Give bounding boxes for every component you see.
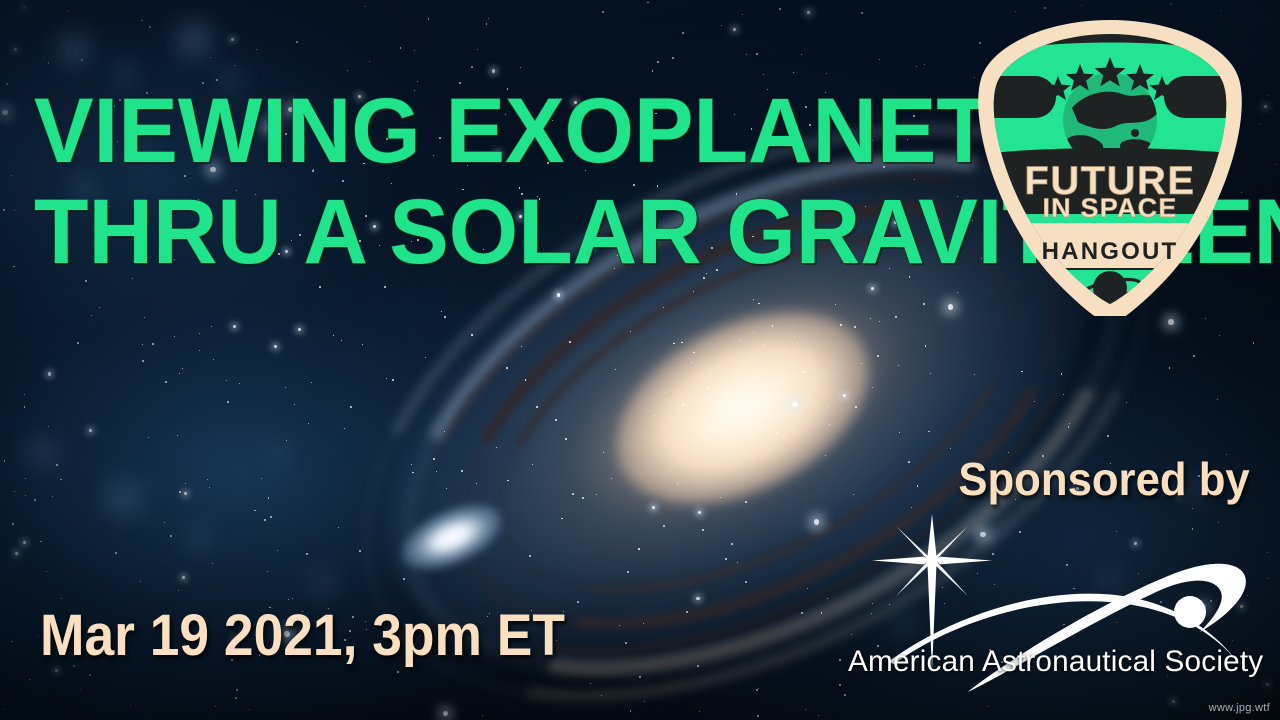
- star: [152, 343, 154, 345]
- star: [818, 715, 819, 716]
- star: [693, 352, 694, 353]
- star: [1081, 5, 1082, 6]
- star: [677, 483, 678, 484]
- star: [840, 324, 842, 326]
- star: [763, 74, 764, 75]
- star: [46, 571, 47, 572]
- star: [872, 387, 873, 388]
- star: [652, 70, 653, 71]
- star: [369, 61, 370, 62]
- star: [737, 562, 738, 563]
- star: [801, 612, 803, 614]
- star: [611, 478, 612, 479]
- star: [731, 543, 733, 545]
- star: [801, 54, 802, 55]
- star: [536, 406, 538, 408]
- star: [130, 705, 131, 706]
- star: [696, 597, 699, 600]
- star: [403, 578, 405, 580]
- star: [948, 304, 954, 310]
- star: [174, 336, 175, 337]
- star: [717, 401, 719, 403]
- star: [296, 41, 298, 43]
- star: [1266, 683, 1269, 686]
- star: [630, 710, 631, 711]
- star: [1220, 10, 1221, 11]
- star: [52, 496, 53, 497]
- star: [89, 674, 91, 676]
- star: [48, 426, 49, 427]
- star: [908, 461, 910, 463]
- star: [140, 581, 141, 582]
- star: [957, 292, 958, 293]
- star: [267, 571, 268, 572]
- star: [338, 527, 339, 528]
- star: [855, 406, 857, 408]
- star: [34, 499, 36, 501]
- star: [236, 689, 238, 691]
- star: [1205, 318, 1206, 319]
- star: [99, 307, 100, 308]
- star: [412, 472, 413, 473]
- star: [14, 491, 15, 492]
- star: [871, 287, 874, 290]
- star: [68, 10, 69, 11]
- star: [770, 403, 771, 404]
- star: [256, 49, 257, 50]
- sponsor-name: American Astronautical Society: [848, 645, 1263, 679]
- star: [644, 701, 645, 702]
- star: [227, 401, 229, 403]
- star: [81, 59, 83, 61]
- star: [758, 688, 759, 689]
- star: [446, 488, 447, 489]
- star: [1021, 371, 1022, 372]
- star: [144, 317, 145, 318]
- star: [898, 365, 899, 366]
- star: [577, 601, 579, 603]
- star: [23, 541, 26, 544]
- star: [24, 406, 25, 407]
- star: [211, 326, 212, 327]
- star: [365, 6, 366, 7]
- star: [48, 702, 49, 703]
- star: [746, 54, 747, 55]
- star: [643, 623, 644, 624]
- star: [311, 382, 312, 383]
- star: [24, 394, 25, 395]
- star: [443, 711, 449, 717]
- star: [1044, 7, 1046, 9]
- star: [471, 66, 473, 68]
- star: [38, 636, 39, 637]
- star: [350, 406, 352, 408]
- star: [3, 209, 5, 211]
- star: [652, 506, 655, 509]
- star: [753, 332, 754, 333]
- star: [164, 522, 165, 523]
- star: [1034, 401, 1035, 402]
- star: [165, 381, 167, 383]
- star: [654, 415, 655, 416]
- star: [347, 70, 348, 71]
- badge-subtitle: HANGOUT: [1042, 238, 1179, 265]
- star: [928, 431, 929, 432]
- star: [239, 383, 240, 384]
- star: [386, 378, 387, 379]
- star: [48, 62, 49, 63]
- star: [827, 598, 828, 599]
- star: [471, 334, 473, 336]
- star: [828, 406, 829, 407]
- star: [362, 344, 363, 345]
- star: [12, 13, 13, 14]
- star: [179, 373, 180, 374]
- star: [397, 671, 399, 673]
- star: [4, 460, 5, 461]
- sponsored-by-label: Sponsored by: [959, 452, 1250, 506]
- star: [854, 326, 856, 328]
- star: [285, 387, 286, 388]
- star: [572, 493, 574, 495]
- star: [839, 659, 841, 661]
- star: [29, 679, 30, 680]
- star: [294, 404, 295, 405]
- star: [1061, 373, 1062, 374]
- star: [486, 23, 487, 24]
- star: [686, 611, 688, 613]
- star: [6, 83, 8, 85]
- star: [199, 333, 200, 334]
- star: [1069, 423, 1070, 424]
- badge-brand-line-2: IN SPACE: [1042, 193, 1177, 223]
- star: [758, 303, 759, 304]
- star: [702, 529, 704, 531]
- star: [182, 576, 185, 579]
- star: [756, 53, 758, 55]
- star: [916, 66, 917, 67]
- star: [625, 642, 627, 644]
- poster-canvas: VIEWING EXOPLANETS THRU A SOLAR GRAVITY …: [0, 0, 1280, 720]
- star: [48, 372, 51, 375]
- star: [924, 64, 925, 65]
- star: [61, 598, 62, 599]
- star: [1063, 394, 1064, 395]
- star: [199, 350, 200, 351]
- star: [91, 315, 92, 316]
- star: [974, 374, 975, 375]
- future-in-space-badge[interactable]: FUTURE IN SPACE HANGOUT: [972, 16, 1248, 316]
- star: [1268, 3, 1269, 4]
- star: [207, 479, 208, 480]
- star: [663, 525, 665, 527]
- star: [286, 440, 287, 441]
- star: [12, 523, 14, 525]
- star: [1193, 355, 1195, 357]
- star: [298, 328, 301, 331]
- star: [170, 535, 172, 537]
- star: [682, 32, 684, 34]
- star: [532, 464, 533, 465]
- star: [763, 344, 764, 345]
- star: [141, 20, 142, 21]
- star: [805, 709, 806, 710]
- star: [950, 448, 951, 449]
- star: [213, 359, 214, 360]
- star: [477, 49, 478, 50]
- star: [215, 706, 216, 707]
- star: [14, 210, 15, 211]
- star: [520, 67, 521, 68]
- star: [149, 26, 151, 28]
- star: [1169, 367, 1170, 368]
- star: [753, 299, 754, 300]
- star: [23, 6, 26, 9]
- star: [488, 18, 489, 19]
- star: [80, 689, 81, 690]
- star: [721, 25, 722, 26]
- star: [698, 511, 701, 514]
- star: [917, 485, 918, 486]
- star: [745, 581, 747, 583]
- star: [1126, 402, 1127, 403]
- star: [740, 340, 741, 341]
- star: [507, 480, 508, 481]
- star: [814, 519, 820, 525]
- star: [1068, 426, 1069, 427]
- star: [627, 571, 629, 573]
- star: [895, 316, 897, 318]
- star: [557, 293, 560, 296]
- star: [441, 311, 442, 312]
- star: [308, 423, 309, 424]
- star: [988, 706, 989, 707]
- star: [306, 553, 308, 555]
- star: [929, 431, 930, 432]
- star: [496, 447, 497, 448]
- star: [1170, 3, 1172, 5]
- star: [602, 11, 604, 13]
- star: [249, 709, 250, 710]
- star: [807, 588, 808, 589]
- star: [1267, 552, 1268, 553]
- star: [177, 435, 178, 436]
- star: [930, 373, 931, 374]
- star: [292, 598, 293, 599]
- star: [25, 495, 26, 496]
- planet-sphere-icon: [1174, 596, 1206, 628]
- star: [792, 402, 798, 408]
- star: [492, 69, 495, 72]
- star: [1253, 342, 1254, 343]
- star: [1219, 335, 1220, 336]
- star: [231, 38, 234, 41]
- star: [825, 455, 826, 456]
- star: [319, 286, 321, 288]
- star: [77, 342, 79, 344]
- star: [525, 379, 526, 380]
- star: [672, 57, 674, 59]
- star: [1267, 578, 1268, 579]
- star: [14, 48, 17, 51]
- star: [793, 72, 794, 73]
- star: [569, 341, 571, 343]
- star: [555, 419, 557, 421]
- star: [1107, 435, 1109, 437]
- star: [681, 342, 682, 343]
- star: [414, 50, 415, 51]
- star: [596, 494, 597, 495]
- star: [707, 387, 709, 389]
- star: [657, 61, 659, 63]
- watermark: www.jpg.wtf: [1209, 702, 1270, 714]
- star: [56, 464, 58, 466]
- star: [603, 452, 604, 453]
- star: [851, 634, 852, 635]
- star: [779, 8, 781, 10]
- star: [411, 464, 412, 465]
- star: [13, 266, 14, 267]
- star: [2, 708, 4, 710]
- star: [254, 510, 255, 511]
- star: [270, 516, 272, 518]
- star: [861, 363, 862, 364]
- star: [638, 548, 639, 549]
- star: [1168, 319, 1174, 325]
- star: [142, 344, 143, 345]
- star: [11, 175, 12, 176]
- star: [807, 11, 810, 14]
- star: [582, 497, 584, 499]
- star: [776, 432, 778, 434]
- star: [11, 641, 12, 642]
- star: [233, 325, 236, 328]
- star: [697, 665, 699, 667]
- star: [691, 362, 692, 363]
- star: [264, 519, 266, 521]
- star: [210, 57, 211, 58]
- event-datetime: Mar 19 2021, 3pm ET: [40, 602, 565, 669]
- star: [699, 711, 700, 712]
- star: [261, 478, 262, 479]
- star: [1192, 508, 1193, 509]
- star: [923, 303, 925, 305]
- star: [461, 470, 463, 472]
- star: [839, 684, 841, 686]
- star: [630, 331, 631, 332]
- star: [433, 458, 435, 460]
- star: [185, 483, 186, 484]
- star: [870, 318, 871, 319]
- star: [344, 428, 345, 429]
- star: [1217, 399, 1218, 400]
- star: [733, 28, 736, 31]
- star: [529, 555, 531, 557]
- star: [288, 599, 289, 600]
- star: [425, 357, 426, 358]
- star: [647, 2, 648, 3]
- star: [506, 367, 508, 369]
- star: [899, 432, 900, 433]
- star: [767, 450, 768, 451]
- star: [226, 380, 227, 381]
- star: [444, 431, 445, 432]
- star: [15, 552, 18, 555]
- star: [341, 340, 342, 341]
- star: [844, 694, 846, 696]
- star: [142, 360, 144, 362]
- star: [835, 304, 836, 305]
- star: [179, 491, 181, 493]
- star: [148, 437, 149, 438]
- star: [1015, 11, 1016, 12]
- star: [803, 371, 805, 373]
- star: [756, 689, 758, 691]
- star: [476, 483, 477, 484]
- star: [829, 424, 830, 425]
- star: [877, 355, 879, 357]
- star: [725, 558, 727, 560]
- star: [25, 478, 26, 479]
- star: [115, 552, 117, 554]
- star: [212, 563, 213, 564]
- star: [1172, 700, 1175, 703]
- star: [682, 404, 684, 406]
- star: [590, 683, 591, 684]
- star: [565, 438, 567, 440]
- star: [772, 325, 773, 326]
- star: [720, 497, 721, 498]
- star: [178, 590, 179, 591]
- star: [392, 379, 394, 381]
- star: [384, 286, 386, 288]
- star: [925, 345, 926, 346]
- star: [879, 59, 880, 60]
- star: [482, 715, 483, 716]
- star: [665, 392, 666, 393]
- star: [853, 494, 854, 495]
- star: [861, 12, 863, 14]
- star: [184, 492, 187, 495]
- star: [2, 110, 8, 116]
- star: [757, 715, 759, 717]
- star: [779, 382, 781, 384]
- star: [911, 507, 912, 508]
- star: [209, 487, 210, 488]
- star: [43, 57, 44, 58]
- star: [794, 336, 795, 337]
- star: [693, 291, 694, 292]
- star: [821, 612, 822, 613]
- star: [268, 497, 269, 498]
- star: [639, 676, 641, 678]
- star: [277, 550, 278, 551]
- star: [826, 73, 827, 74]
- star: [436, 471, 437, 472]
- star: [428, 18, 429, 19]
- star: [89, 429, 92, 432]
- star: [601, 695, 602, 696]
- star: [879, 321, 880, 322]
- star: [619, 625, 620, 626]
- star: [359, 550, 361, 552]
- star: [521, 346, 522, 347]
- star: [400, 47, 401, 48]
- star: [843, 394, 846, 397]
- star: [40, 541, 41, 542]
- star: [333, 335, 334, 336]
- star: [673, 343, 674, 344]
